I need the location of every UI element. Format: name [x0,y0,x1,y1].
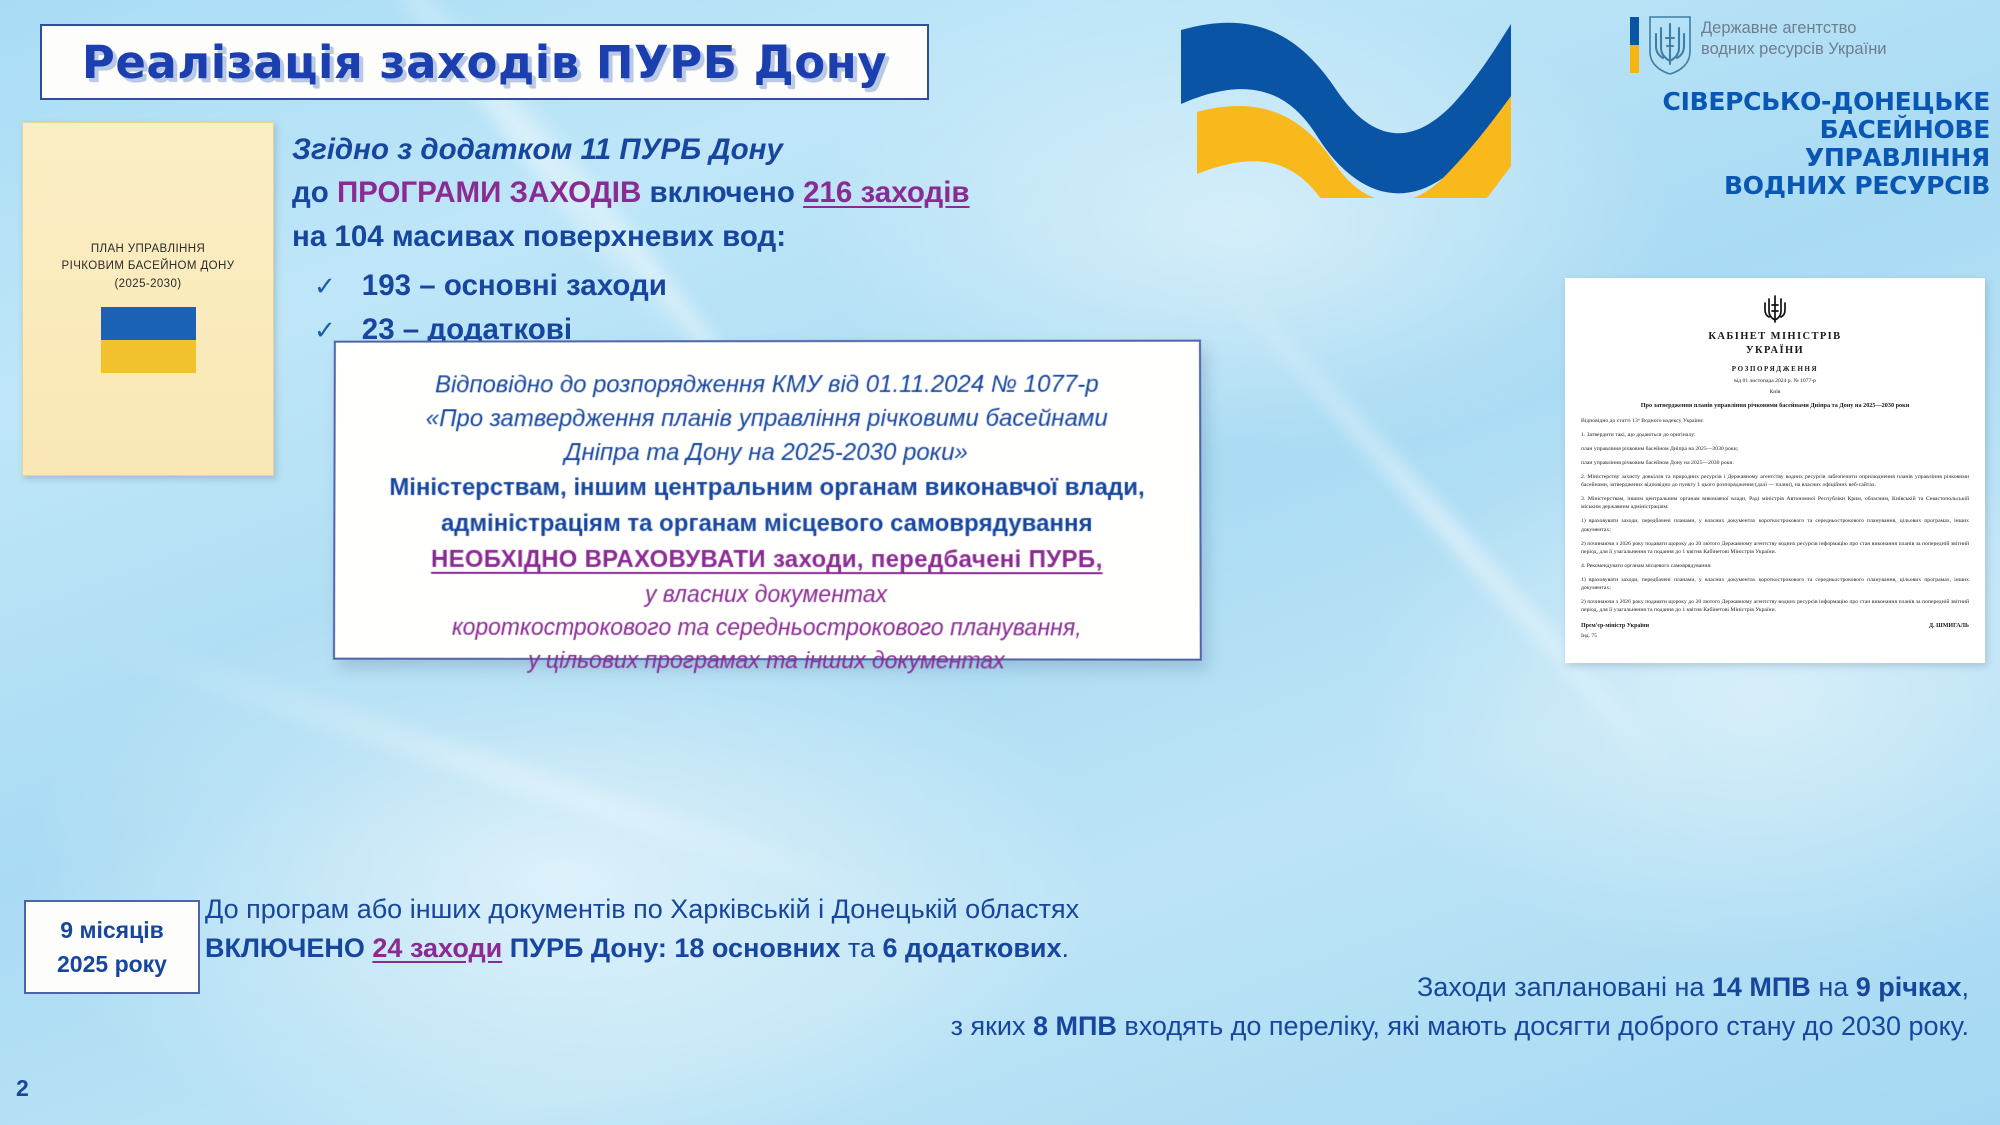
doc-date-number: від 01 листопада 2024 р. № 1077-р [1581,378,1969,384]
bottom-summary-block: До програм або інших документів по Харкі… [205,890,1985,1047]
period-badge-line1: 9 місяців [60,913,163,948]
doc-paragraph: 2. Міністерству захисту довкілля та прир… [1581,473,1969,489]
intro-measures-count: 216 заходів [803,176,969,209]
panel-italic-line-3: Дніпра та Дону на 2025-2030 роки» [365,436,1169,470]
doc-paragraph: Відповідно до статті 13⁶ Водного кодексу… [1581,417,1969,425]
bottom-line-2-e: та [840,933,882,963]
bottom-line-2: ВКЛЮЧЕНО 24 заходи ПУРБ Дону: 18 основни… [205,929,1985,968]
period-badge: 9 місяців 2025 року [24,900,200,994]
doc-signature-row: Прем'єр-міністр України Д. ШМИГАЛЬ [1581,623,1969,629]
doc-subject: Про затвердження планів управління річко… [1581,402,1969,410]
slide-number: 2 [16,1075,29,1102]
doc-signer-title: Прем'єр-міністр України [1581,623,1649,629]
doc-signer-name: Д. ШМИГАЛЬ [1929,623,1969,629]
book-title-line2: РІЧКОВИМ БАСЕЙНОМ ДОНУ [62,258,235,275]
org-name: СІВЕРСЬКО-ДОНЕЦЬКЕ БАСЕЙНОВЕ УПРАВЛІННЯ … [1630,88,1990,200]
bottom-line-2-g: . [1062,933,1070,963]
bottom-line-3-a: Заходи заплановані на [1417,972,1712,1002]
list-item-label: 193 – основні заходи [362,264,667,308]
intro-line-2: до ПРОГРАМИ ЗАХОДІВ включено 216 заходів [292,171,982,214]
panel-bold-line-2: адміністраціям та органам місцевого само… [365,506,1169,542]
doc-paragraph: 2) починаючи з 2026 року подавати щороку… [1581,540,1969,556]
bottom-line-1: До програм або інших документів по Харкі… [205,890,1985,929]
intro-line-1: Згідно з додатком 11 ПУРБ Дону [292,128,982,171]
doc-heading-line1: КАБІНЕТ МІНІСТРІВ [1581,330,1969,344]
page-title: Реалізація заходів ПУРБ Дону [82,36,887,89]
decree-quote-panel: Відповідно до розпорядження КМУ від 01.1… [333,340,1202,661]
doc-heading-line2: УКРАЇНИ [1581,344,1969,358]
panel-highlight-line: НЕОБХІДНО ВРАХОВУВАТИ заходи, передбачен… [365,542,1169,578]
intro-line-2-prefix: до [292,176,337,209]
bottom-mpv-count: 14 МПВ [1712,972,1811,1002]
ukraine-flag-icon [101,307,196,373]
org-name-line2: БАСЕЙНОВЕ УПРАВЛІННЯ [1630,116,1990,172]
panel-bold-line-1: Міністерствам, іншим центральним органам… [365,470,1169,506]
org-name-line3: ВОДНИХ РЕСУРСІВ [1630,172,1990,200]
bottom-included-count: 24 заходи [372,933,502,963]
panel-italic-line-2: «Про затвердження планів управління річк… [365,402,1169,437]
organization-logo-block: Державне агентство водних ресурсів Украї… [1630,14,1990,200]
bottom-line-3: Заходи заплановані на 14 МПВ на 9 річках… [205,968,1985,1007]
doc-paragraph: 4. Рекомендувати органам місцевого самов… [1581,562,1969,570]
agency-name-line1: Державне агентство [1701,18,1887,39]
list-item: ✓ 193 – основні заходи [292,264,982,308]
bottom-main-count: 18 основних [674,933,840,963]
panel-magenta-italic-1: у власних документах [365,578,1170,611]
tryzub-shield-icon [1647,14,1693,76]
intro-text-block: Згідно з додатком 11 ПУРБ Дону до ПРОГРА… [292,128,982,353]
doc-heading-primary: КАБІНЕТ МІНІСТРІВ УКРАЇНИ [1581,330,1969,358]
decree-document-scan: КАБІНЕТ МІНІСТРІВ УКРАЇНИ РОЗПОРЯДЖЕННЯ … [1565,278,1985,663]
intro-program-label: ПРОГРАМИ ЗАХОДІВ [337,176,641,209]
doc-paragraph: 1) враховувати заходи, передбачені плана… [1581,576,1969,592]
doc-paragraph: 2) починаючи з 2026 року подавати щороку… [1581,598,1969,614]
check-icon: ✓ [314,267,336,306]
bottom-line-2-a: ВКЛЮЧЕНО [205,933,372,963]
bottom-line-4-a: з яких [951,1011,1033,1041]
panel-italic-line-1: Відповідно до розпорядження КМУ від 01.1… [365,368,1168,403]
doc-city: Київ [1581,389,1969,395]
bottom-line-3-e: , [1961,972,1969,1002]
doc-paragraph: план управління річковим басейном Дніпра… [1581,445,1969,453]
intro-line-2-mid: включено [641,176,803,209]
bottom-line-2-c: ПУРБ Дону: [502,933,674,963]
panel-magenta-italic-3: у цільових програмах та інших документах [365,643,1170,677]
flag-wave-graphic [1175,8,1605,198]
agency-name: Державне агентство водних ресурсів Украї… [1701,14,1887,59]
agency-name-line2: водних ресурсів України [1701,39,1887,60]
book-title-line3: (2025-2030) [62,276,235,293]
doc-paragraph: 1. Затвердити такі, що додаються до ориг… [1581,431,1969,439]
bottom-rivers-count: 9 річках [1856,972,1962,1002]
org-name-line1: СІВЕРСЬКО-ДОНЕЦЬКЕ [1630,88,1990,116]
book-cover-title: ПЛАН УПРАВЛІННЯ РІЧКОВИМ БАСЕЙНОМ ДОНУ (… [62,241,235,293]
doc-paragraph: 3. Міністерствам, іншим центральним орга… [1581,495,1969,511]
bottom-line-3-c: на [1811,972,1856,1002]
bottom-extra-count: 6 додаткових [883,933,1062,963]
bottom-good-status-count: 8 МПВ [1033,1011,1117,1041]
tryzub-icon [1764,294,1786,324]
doc-paragraph: 1) враховувати заходи, передбачені плана… [1581,517,1969,533]
book-title-line1: ПЛАН УПРАВЛІННЯ [62,241,235,258]
intro-line-3: на 104 масивах поверхневих вод: [292,215,982,258]
doc-paragraph: план управління річковим басейном Дону н… [1581,459,1969,467]
bottom-line-4-c: входять до переліку, які мають досягти д… [1117,1011,1969,1041]
plan-book-cover: ПЛАН УПРАВЛІННЯ РІЧКОВИМ БАСЕЙНОМ ДОНУ (… [22,122,274,476]
panel-magenta-italic-2: короткострокового та середньострокового … [365,611,1170,644]
flag-bars-icon [1630,17,1639,73]
period-badge-line2: 2025 року [57,947,167,982]
check-icon: ✓ [314,311,336,350]
doc-index: Інд. 75 [1581,633,1969,639]
doc-heading-type: РОЗПОРЯДЖЕННЯ [1581,365,1969,373]
slide-title-box: Реалізація заходів ПУРБ Дону [40,24,929,100]
bottom-line-4: з яких 8 МПВ входять до переліку, які ма… [205,1007,1985,1046]
